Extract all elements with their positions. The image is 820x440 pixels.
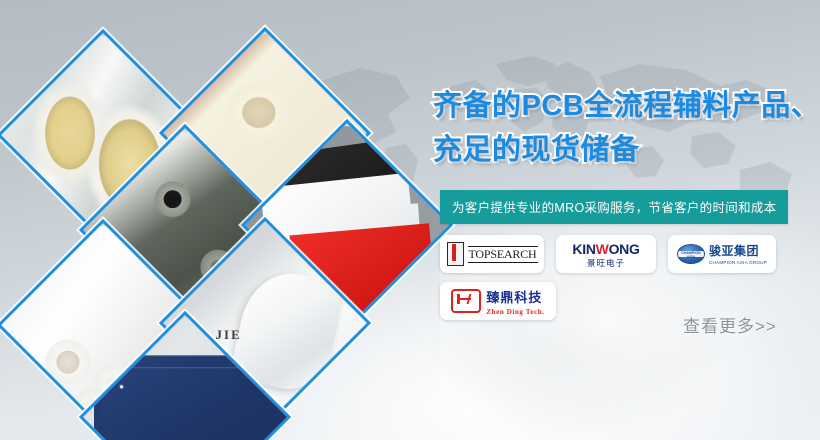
page-title: 齐备的PCB全流程辅料产品、 充足的现货储备 [433, 84, 820, 172]
logo-kinwong[interactable]: KINWONG 景旺电子 [556, 235, 656, 273]
kinwong-wordmark-icon: KINWONG 景旺电子 [572, 241, 639, 268]
kinwong-chinese: 景旺电子 [572, 259, 639, 268]
logo-topsearch[interactable]: TOPSEARCH [440, 235, 544, 273]
zhen-ding-mark-icon [451, 289, 481, 313]
subtitle-bar: 为客户提供专业的MRO采购服务，节省客户的时间和成本 [440, 190, 788, 224]
headline-line-1: 齐备的PCB全流程辅料产品、 [433, 90, 820, 122]
champion-chinese: 骏亚集团 [709, 242, 767, 259]
kinwong-ong: ONG [609, 241, 640, 257]
logo-row-1: TOPSEARCH KINWONG 景旺电子 C [440, 235, 820, 273]
champion-latin: CHAMPION ASIA GROUP [709, 261, 767, 266]
product-diamond-mosaic: JIE [0, 0, 420, 440]
zhen-ding-chinese: 臻鼎科技 [486, 287, 544, 306]
topsearch-wordmark: TOPSEARCH [468, 246, 538, 263]
champion-asia-globe-icon: CHAMPION ASIA [677, 244, 705, 264]
banner-content: 齐备的PCB全流程辅料产品、 充足的现货储备 为客户提供专业的MRO采购服务，节… [430, 0, 820, 440]
topsearch-mark-icon [447, 242, 464, 266]
kinwong-w: W [596, 241, 609, 257]
kinwong-kin: KIN [572, 241, 595, 257]
logo-zhen-ding[interactable]: 臻鼎科技 Zhen Ding Tech. [440, 282, 556, 320]
champion-globe-text: CHAMPION ASIA [679, 252, 703, 259]
tile-jie-text: JIE [216, 327, 242, 343]
promo-banner: JIE 齐备的PCB全流程辅料产品、 充足的现货储备 为客户提供专业的MRO采购… [0, 0, 820, 440]
view-more-link[interactable]: 查看更多>> [683, 312, 777, 337]
zhen-ding-latin: Zhen Ding Tech. [486, 308, 544, 316]
headline-line-2: 充足的现货储备 [433, 128, 820, 172]
logo-champion-asia[interactable]: CHAMPION ASIA 骏亚集团 CHAMPION ASIA GROUP [668, 235, 776, 273]
